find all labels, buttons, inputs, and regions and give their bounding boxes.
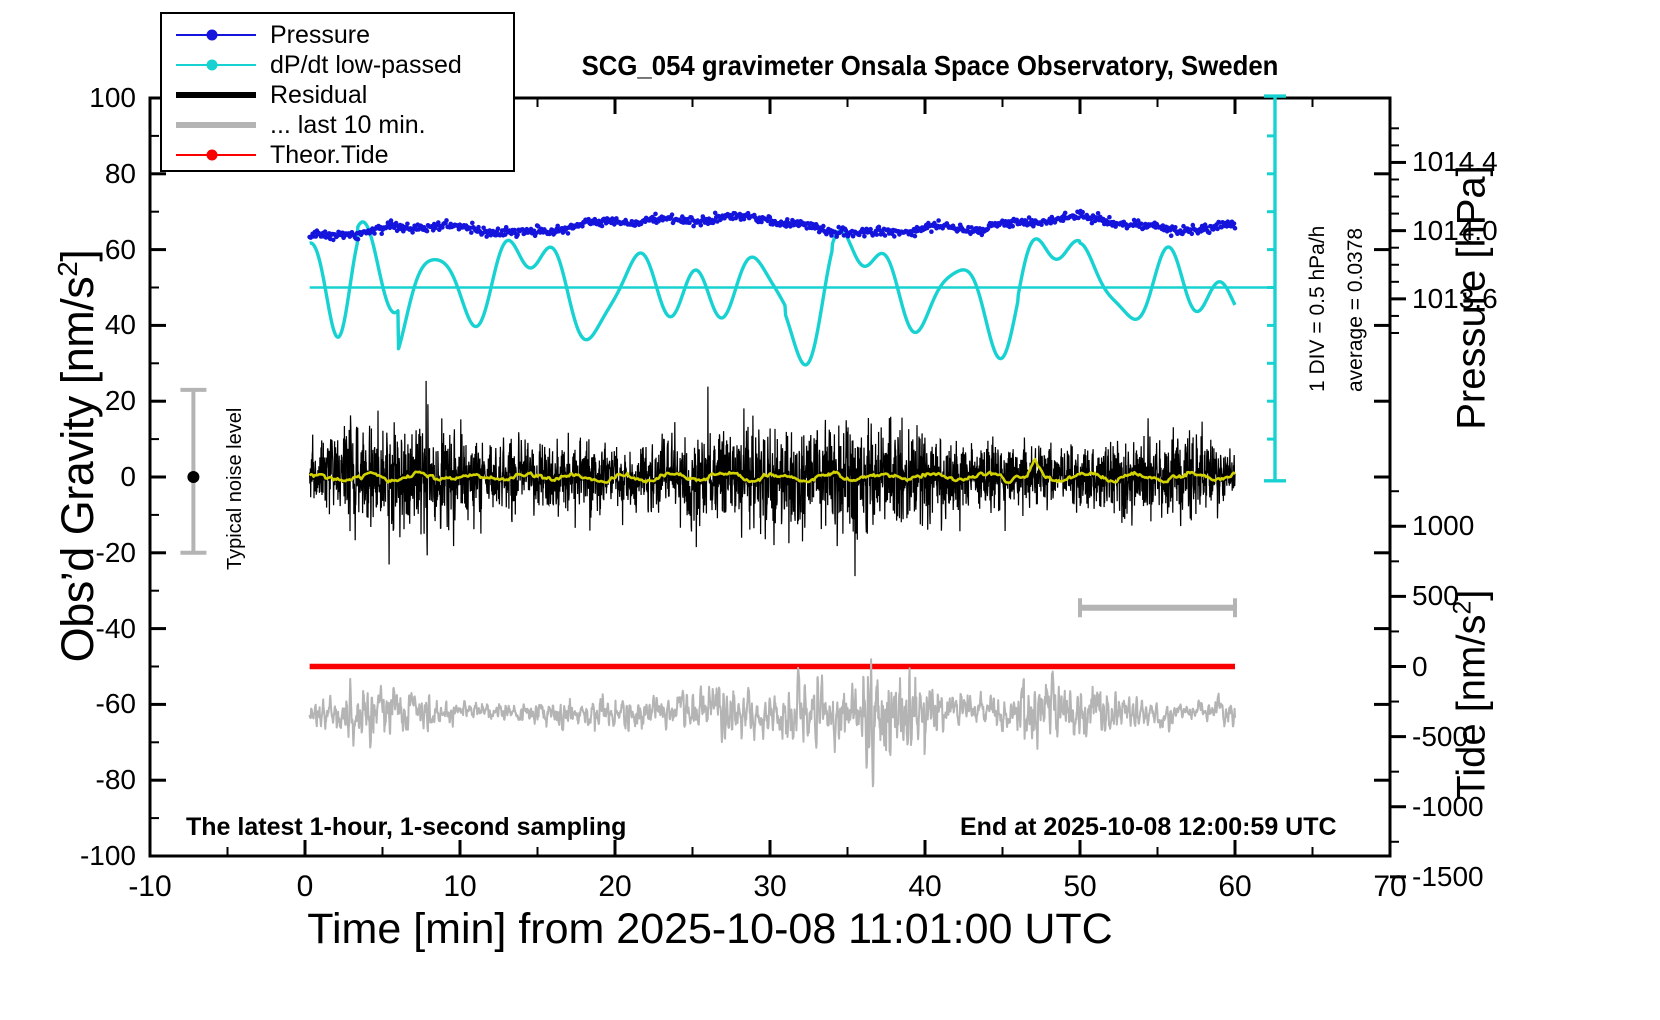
y-tick-label: -80: [0, 766, 136, 794]
legend-swatch-icon: [176, 55, 256, 75]
legend-item-0[interactable]: Pressure: [162, 20, 513, 50]
legend-label: Theor.Tide: [270, 143, 389, 168]
legend-swatch-icon: [176, 85, 256, 105]
annotation-div-scale: 1 DIV = 0.5 hPa/h: [1306, 226, 1330, 392]
legend-swatch-icon: [176, 115, 256, 135]
annotation-average: average = 0.0378: [1344, 228, 1368, 392]
x-tick-label: 40: [865, 872, 985, 902]
legend-item-2[interactable]: Residual: [162, 80, 513, 110]
y-tick-label: -100: [0, 842, 136, 870]
x-axis-label: Time [min] from 2025-10-08 11:01:00 UTC: [0, 905, 1420, 954]
y-tick-label: -40: [0, 615, 136, 643]
legend-item-4[interactable]: Theor.Tide: [162, 140, 513, 170]
y-tick-label: 80: [0, 160, 136, 188]
legend-swatch-icon: [176, 145, 256, 165]
x-tick-label: 50: [1020, 872, 1140, 902]
x-tick-label: -10: [90, 872, 210, 902]
y-axis-label-tide: Tide [nm/s2]: [1449, 505, 1494, 885]
x-tick-label: 30: [710, 872, 830, 902]
legend-label: Residual: [270, 83, 367, 108]
legend-label: dP/dt low-passed: [270, 53, 462, 78]
y-tick-label: -20: [0, 539, 136, 567]
legend-label: ... last 10 min.: [270, 113, 426, 138]
y-tick-label: 20: [0, 387, 136, 415]
y-tick-label: 60: [0, 236, 136, 264]
y-tick-label: 100: [0, 84, 136, 112]
annotation-noise-level: Typical noise level: [224, 408, 247, 570]
legend-swatch-icon: [176, 25, 256, 45]
page-title: SCG_054 gravimeter Onsala Space Observat…: [470, 50, 1390, 82]
y-tick-label: -60: [0, 690, 136, 718]
caption-end-time: End at 2025-10-08 12:00:59 UTC: [960, 813, 1337, 842]
x-tick-label: 60: [1175, 872, 1295, 902]
legend: PressuredP/dt low-passedResidual... last…: [160, 12, 515, 172]
legend-label: Pressure: [270, 23, 370, 48]
x-tick-label: 0: [245, 872, 365, 902]
legend-item-3[interactable]: ... last 10 min.: [162, 110, 513, 140]
legend-item-1[interactable]: dP/dt low-passed: [162, 50, 513, 80]
x-tick-label: 20: [555, 872, 675, 902]
x-tick-label: 10: [400, 872, 520, 902]
y-tick-label: 40: [0, 311, 136, 339]
caption-sampling: The latest 1-hour, 1-second sampling: [186, 813, 626, 842]
y-tick-label: 0: [0, 463, 136, 491]
